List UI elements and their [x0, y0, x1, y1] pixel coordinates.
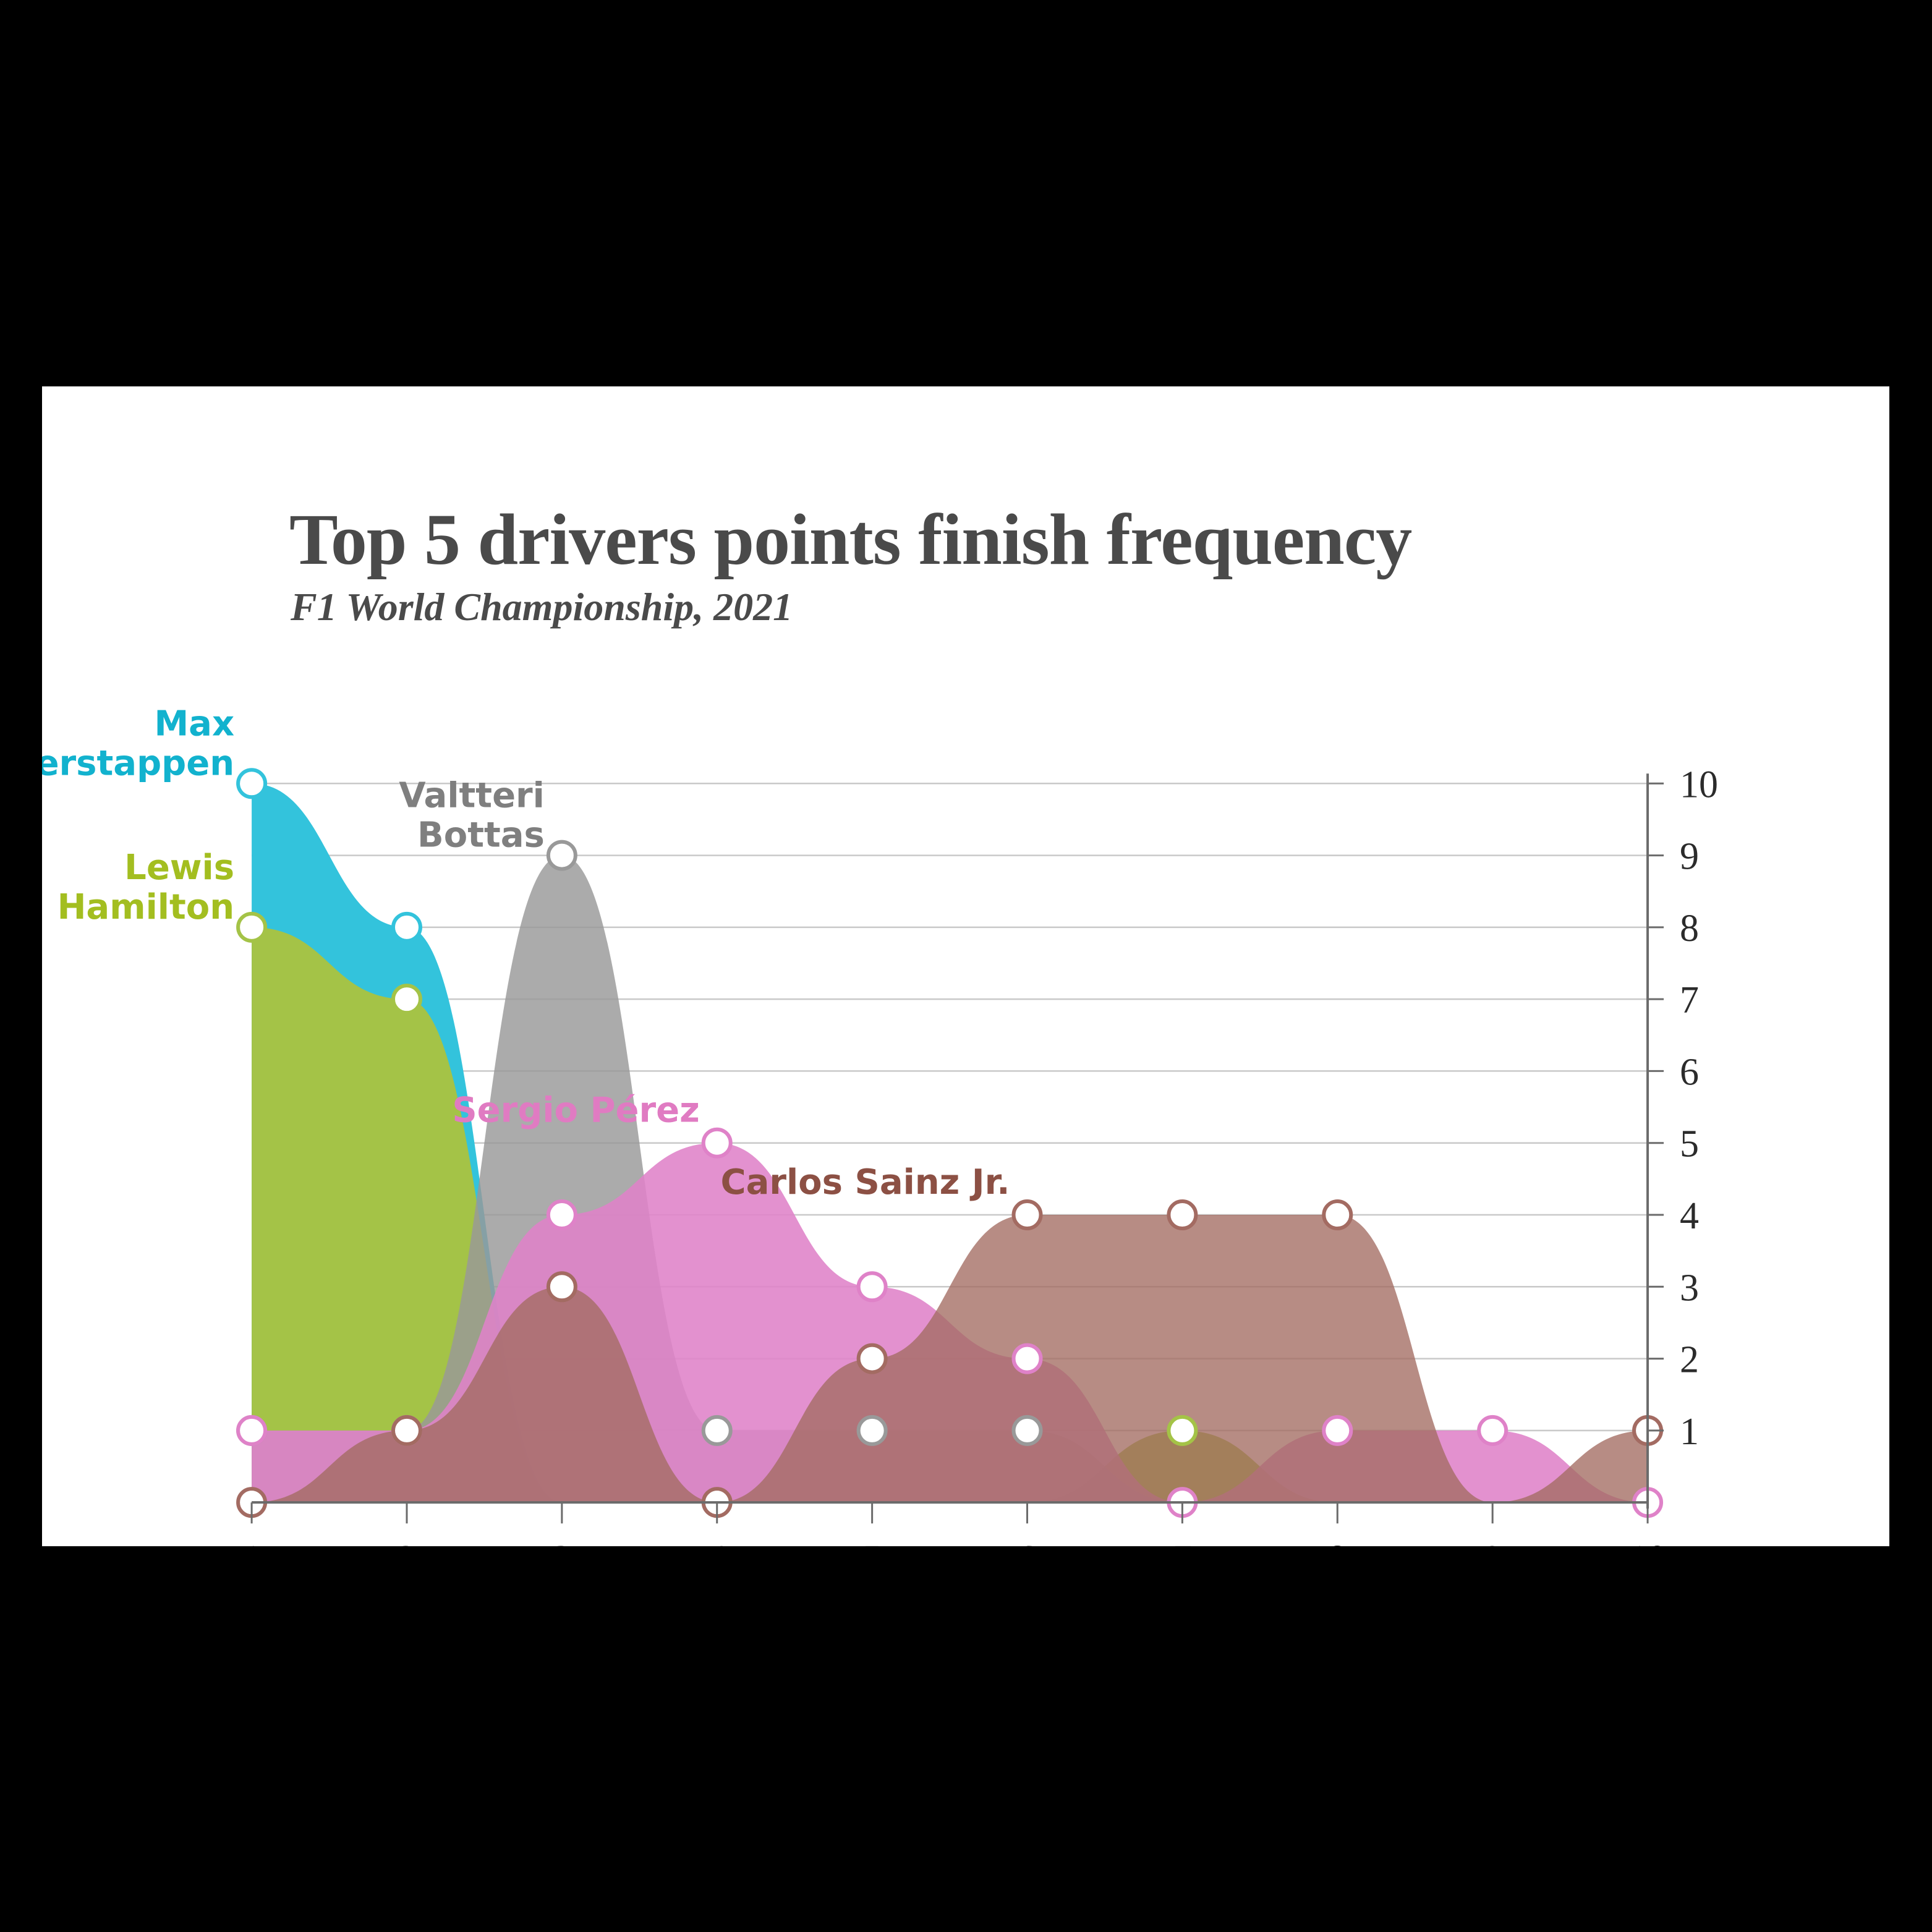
data-point-marker[interactable] [238, 770, 265, 797]
y-tick-label: 4 [1680, 1195, 1699, 1237]
data-point-marker[interactable] [1014, 1417, 1041, 1444]
y-tick-label: 3 [1680, 1267, 1699, 1309]
x-tick-label: 4 [707, 1538, 726, 1546]
data-point-marker[interactable] [1014, 1201, 1041, 1228]
y-tick-label: 10 [1680, 764, 1718, 806]
y-tick-label: 2 [1680, 1339, 1699, 1381]
data-point-marker[interactable] [548, 842, 576, 869]
series-label: Max [154, 704, 234, 744]
series-label: Lewis [124, 848, 234, 888]
data-point-marker[interactable] [548, 1201, 576, 1228]
series-label: Carlos Sainz Jr. [720, 1162, 1010, 1202]
x-tick-label: 7 [1173, 1538, 1192, 1546]
y-tick-label: 9 [1680, 836, 1699, 878]
y-tick-label: 7 [1680, 979, 1699, 1021]
data-point-marker[interactable] [238, 1417, 265, 1444]
chart-card: Top 5 drivers points finish frequency F1… [42, 386, 1889, 1546]
series-label: Bottas [417, 815, 545, 856]
y-tick-label: 1 [1680, 1411, 1699, 1453]
x-tick-label: 3 [552, 1538, 571, 1546]
data-point-marker[interactable] [1324, 1201, 1351, 1228]
y-tick-label: 8 [1680, 908, 1699, 950]
y-tick-label: 6 [1680, 1051, 1699, 1093]
series-label: Hamilton [57, 887, 235, 927]
x-tick-label: 6 [1018, 1538, 1037, 1546]
series-label: Verstappen [42, 743, 234, 783]
data-point-marker[interactable] [238, 914, 265, 941]
series-label: Sergio Pérez [452, 1091, 699, 1131]
x-tick-label: 9 [1483, 1538, 1502, 1546]
data-point-marker[interactable] [393, 985, 420, 1013]
x-tick-label: 1 [242, 1538, 262, 1546]
data-point-marker[interactable] [1168, 1201, 1196, 1228]
data-point-marker[interactable] [704, 1130, 731, 1157]
data-point-marker[interactable] [859, 1273, 886, 1300]
data-point-marker[interactable] [1479, 1417, 1506, 1444]
data-point-marker[interactable] [704, 1417, 731, 1444]
data-point-marker[interactable] [1324, 1417, 1351, 1444]
series-label: Valtteri [399, 776, 545, 816]
data-point-marker[interactable] [859, 1417, 886, 1444]
area-chart: 1234567891012345678910MaxVerstappenLewis… [42, 386, 1889, 1546]
data-point-marker[interactable] [548, 1273, 576, 1300]
x-axis-ticks: 12345678910 [242, 1502, 1667, 1546]
data-point-marker[interactable] [393, 1417, 420, 1444]
data-point-marker[interactable] [1014, 1345, 1041, 1372]
y-tick-label: 5 [1680, 1123, 1699, 1165]
data-point-marker[interactable] [393, 914, 420, 941]
y-axis-ticks: 12345678910 [1648, 764, 1718, 1453]
data-point-marker[interactable] [1168, 1417, 1196, 1444]
x-tick-label: 5 [862, 1538, 882, 1546]
x-tick-label: 2 [397, 1538, 416, 1546]
x-tick-label: 8 [1328, 1538, 1347, 1546]
x-tick-label: 10 [1628, 1538, 1667, 1546]
data-point-marker[interactable] [859, 1345, 886, 1372]
